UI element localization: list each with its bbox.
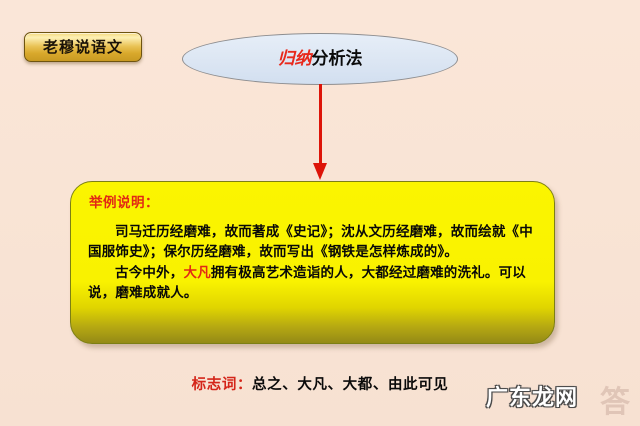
paragraph-2-highlight: 大凡 xyxy=(184,265,211,281)
watermark-ghost-text: 答 xyxy=(600,388,632,418)
slide-canvas: 老穆说语文 归纳分析法 举例说明： 司马迁历经磨难，故而著成《史记》；沈从文历经… xyxy=(0,0,640,426)
example-paragraph-2: 古今中外，大凡拥有极高艺术造诣的人，大都经过磨难的洗礼。可以说，磨难成就人。 xyxy=(88,264,537,304)
example-panel: 举例说明： 司马迁历经磨难，故而著成《史记》；沈从文历经磨难，故而绘就《中国服饰… xyxy=(70,181,555,344)
title-text-main: 分析法 xyxy=(312,49,363,69)
watermark: 答 广东龙网 xyxy=(486,376,634,420)
down-arrow-icon xyxy=(313,84,327,180)
title-text: 归纳分析法 xyxy=(278,51,363,68)
arrow-shaft xyxy=(319,84,322,164)
example-panel-heading: 举例说明： xyxy=(89,196,537,211)
brand-badge[interactable]: 老穆说语文 xyxy=(24,32,142,62)
example-paragraph-1: 司马迁历经磨难，故而著成《史记》；沈从文历经磨难，故而绘就《中国服饰史》；保尔历… xyxy=(88,223,537,263)
brand-badge-label: 老穆说语文 xyxy=(43,40,123,55)
paragraph-2-text-a: 古今中外， xyxy=(115,265,184,281)
arrow-head xyxy=(313,163,327,180)
paragraph-1-text: 司马迁历经磨难，故而著成《史记》；沈从文历经磨难，故而绘就《中国服饰史》；保尔历… xyxy=(88,224,533,260)
keyword-label: 标志词： xyxy=(192,377,252,393)
keyword-value: 总之、大凡、大都、由此可见 xyxy=(252,377,448,393)
title-text-emphasis: 归纳 xyxy=(278,49,312,69)
watermark-main-text: 广东龙网 xyxy=(486,388,578,410)
title-ellipse: 归纳分析法 xyxy=(182,33,458,85)
